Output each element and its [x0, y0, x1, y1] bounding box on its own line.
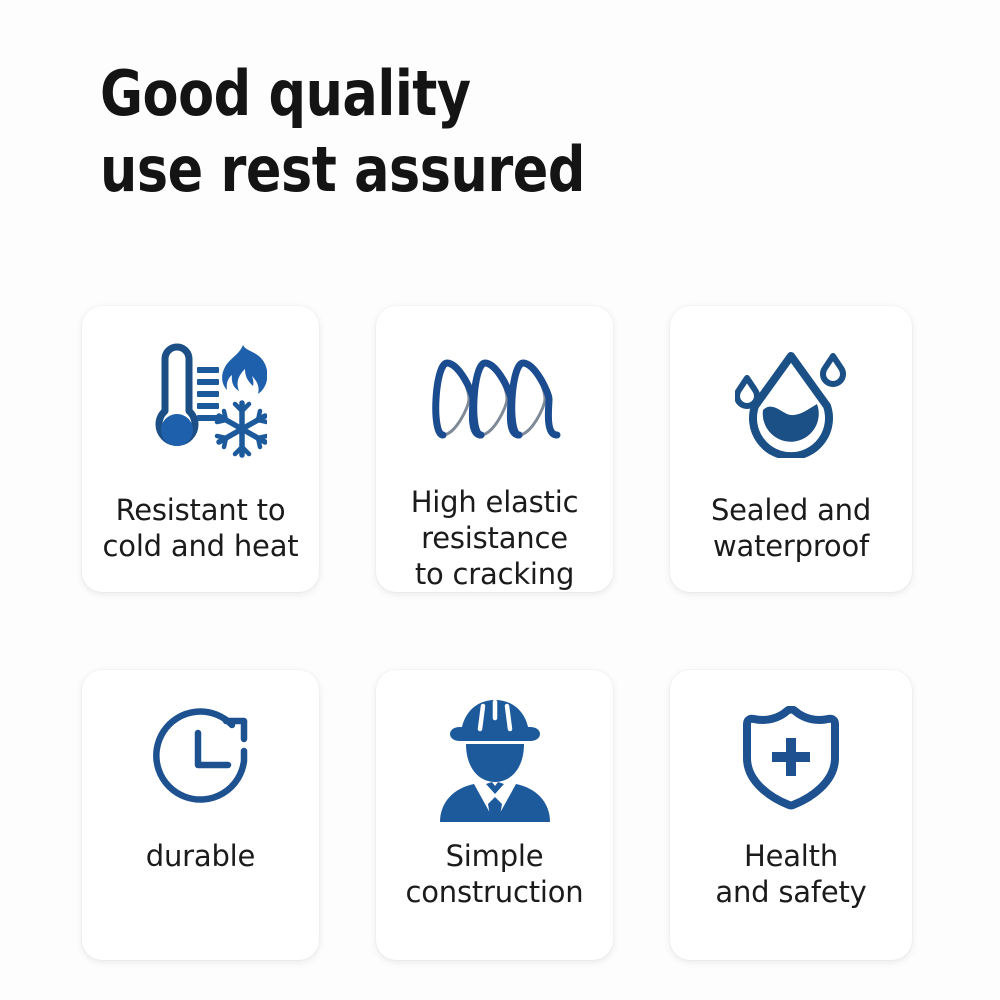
icon-container: [135, 314, 267, 492]
icon-container: [436, 678, 554, 838]
feature-label: Sealed and waterproof: [705, 492, 877, 564]
feature-label: Resistant to cold and heat: [97, 492, 305, 564]
page-title-line-1: Good quality: [100, 56, 852, 132]
water-drop-icon: [735, 348, 847, 458]
page-title: Good quality use rest assured: [100, 56, 900, 208]
feature-highlight-page: Good quality use rest assured: [0, 0, 1000, 1000]
feature-card-grid: Resistant to cold and heat: [82, 306, 918, 960]
feature-card-high-elastic-resistance[interactable]: High elastic resistance to cracking: [376, 306, 613, 592]
thermometer-flame-snowflake-icon: [135, 341, 267, 466]
feature-card-resistant-to-cold-and-heat[interactable]: Resistant to cold and heat: [82, 306, 319, 592]
clock-rotate-icon: [140, 699, 262, 817]
icon-container: [739, 678, 843, 838]
construction-worker-icon: [436, 694, 554, 822]
feature-card-simple-construction[interactable]: Simple construction: [376, 670, 613, 960]
icon-container: [735, 314, 847, 492]
icon-container: [429, 314, 561, 484]
spring-coil-icon: [429, 349, 561, 449]
feature-label: Simple construction: [400, 838, 590, 910]
flame-glyph: [222, 345, 267, 394]
icon-container: [140, 678, 262, 838]
page-title-line-2: use rest assured: [100, 132, 852, 208]
feature-card-sealed-and-waterproof[interactable]: Sealed and waterproof: [670, 306, 912, 592]
feature-card-health-and-safety[interactable]: Health and safety: [670, 670, 912, 960]
shield-plus-icon: [739, 706, 843, 810]
snowflake-glyph: [217, 403, 267, 455]
feature-card-durable[interactable]: durable: [82, 670, 319, 960]
feature-label: durable: [140, 838, 261, 874]
feature-label: Health and safety: [709, 838, 872, 910]
feature-label: High elastic resistance to cracking: [405, 484, 585, 592]
